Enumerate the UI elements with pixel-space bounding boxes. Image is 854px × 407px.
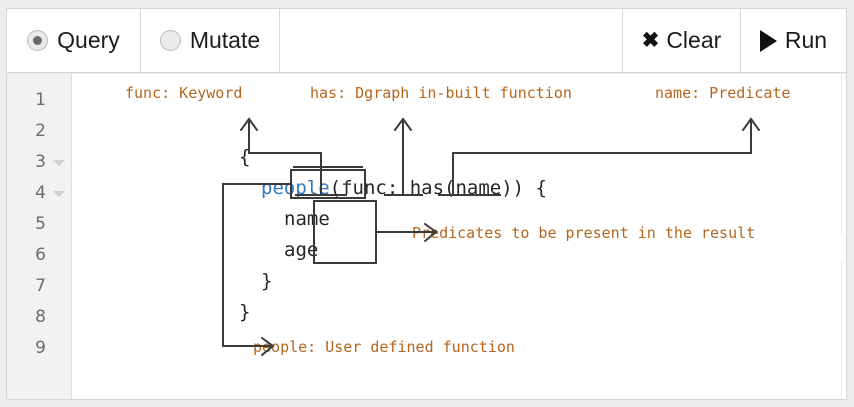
- toolbar-spacer: [280, 9, 623, 72]
- code-line-3: {: [239, 146, 250, 168]
- annotation-func: func: Keyword: [125, 84, 242, 102]
- code-editor[interactable]: 1 2 3 4 5 6 7 8 9 func: Keyword has: Dgr…: [6, 74, 847, 400]
- line-number-4: 4: [35, 183, 46, 203]
- fold-toggle-line-3[interactable]: [53, 160, 65, 166]
- play-icon: [760, 30, 777, 52]
- mutate-radio-icon[interactable]: [160, 30, 181, 51]
- tab-mutate[interactable]: Mutate: [141, 9, 280, 72]
- annotation-has: has: Dgraph in-built function: [310, 84, 572, 102]
- line-number-9: 9: [35, 338, 46, 358]
- tab-query-label: Query: [57, 27, 120, 54]
- line-number-7: 7: [35, 276, 46, 296]
- line-number-8: 8: [35, 307, 46, 327]
- code-line-6: age: [284, 239, 318, 261]
- editor-toolbar: Query Mutate ✖ Clear Run: [6, 8, 847, 73]
- code-line-8: }: [239, 301, 250, 323]
- code-line-4-rest: (func: has(name)) {: [330, 177, 547, 199]
- annotation-name: name: Predicate: [655, 84, 790, 102]
- close-icon: ✖: [642, 30, 660, 51]
- run-button-label: Run: [785, 27, 827, 54]
- line-number-1: 1: [35, 90, 46, 110]
- tab-query[interactable]: Query: [7, 9, 141, 72]
- clear-button[interactable]: ✖ Clear: [623, 9, 741, 72]
- dgraph-ratel-query-editor: Query Mutate ✖ Clear Run 1 2 3 4 5 6 7 8…: [0, 0, 854, 407]
- code-line-7: }: [261, 270, 272, 292]
- line-number-gutter: 1 2 3 4 5 6 7 8 9: [7, 74, 72, 399]
- run-button[interactable]: Run: [741, 9, 846, 72]
- annotation-people: people: User defined function: [253, 338, 515, 356]
- arrowhead-has: [395, 119, 411, 130]
- clear-button-label: Clear: [666, 27, 721, 54]
- scrollbar-thumb[interactable]: [841, 234, 846, 260]
- arrowhead-func: [241, 119, 257, 130]
- arrowhead-name: [743, 119, 759, 130]
- fold-toggle-line-4[interactable]: [53, 191, 65, 197]
- connector-people: [223, 184, 291, 346]
- tab-mutate-label: Mutate: [190, 27, 260, 54]
- code-line-5: name: [284, 208, 330, 230]
- code-line-4: people(func: has(name)) {: [261, 177, 547, 199]
- line-number-6: 6: [35, 245, 46, 265]
- line-number-2: 2: [35, 121, 46, 141]
- code-content[interactable]: func: Keyword has: Dgraph in-built funct…: [71, 74, 846, 399]
- code-keyword-people: people: [261, 177, 330, 199]
- query-radio-icon[interactable]: [27, 30, 48, 51]
- line-number-5: 5: [35, 214, 46, 234]
- line-number-3: 3: [35, 152, 46, 172]
- annotation-predicates: Predicates to be present in the result: [412, 224, 755, 242]
